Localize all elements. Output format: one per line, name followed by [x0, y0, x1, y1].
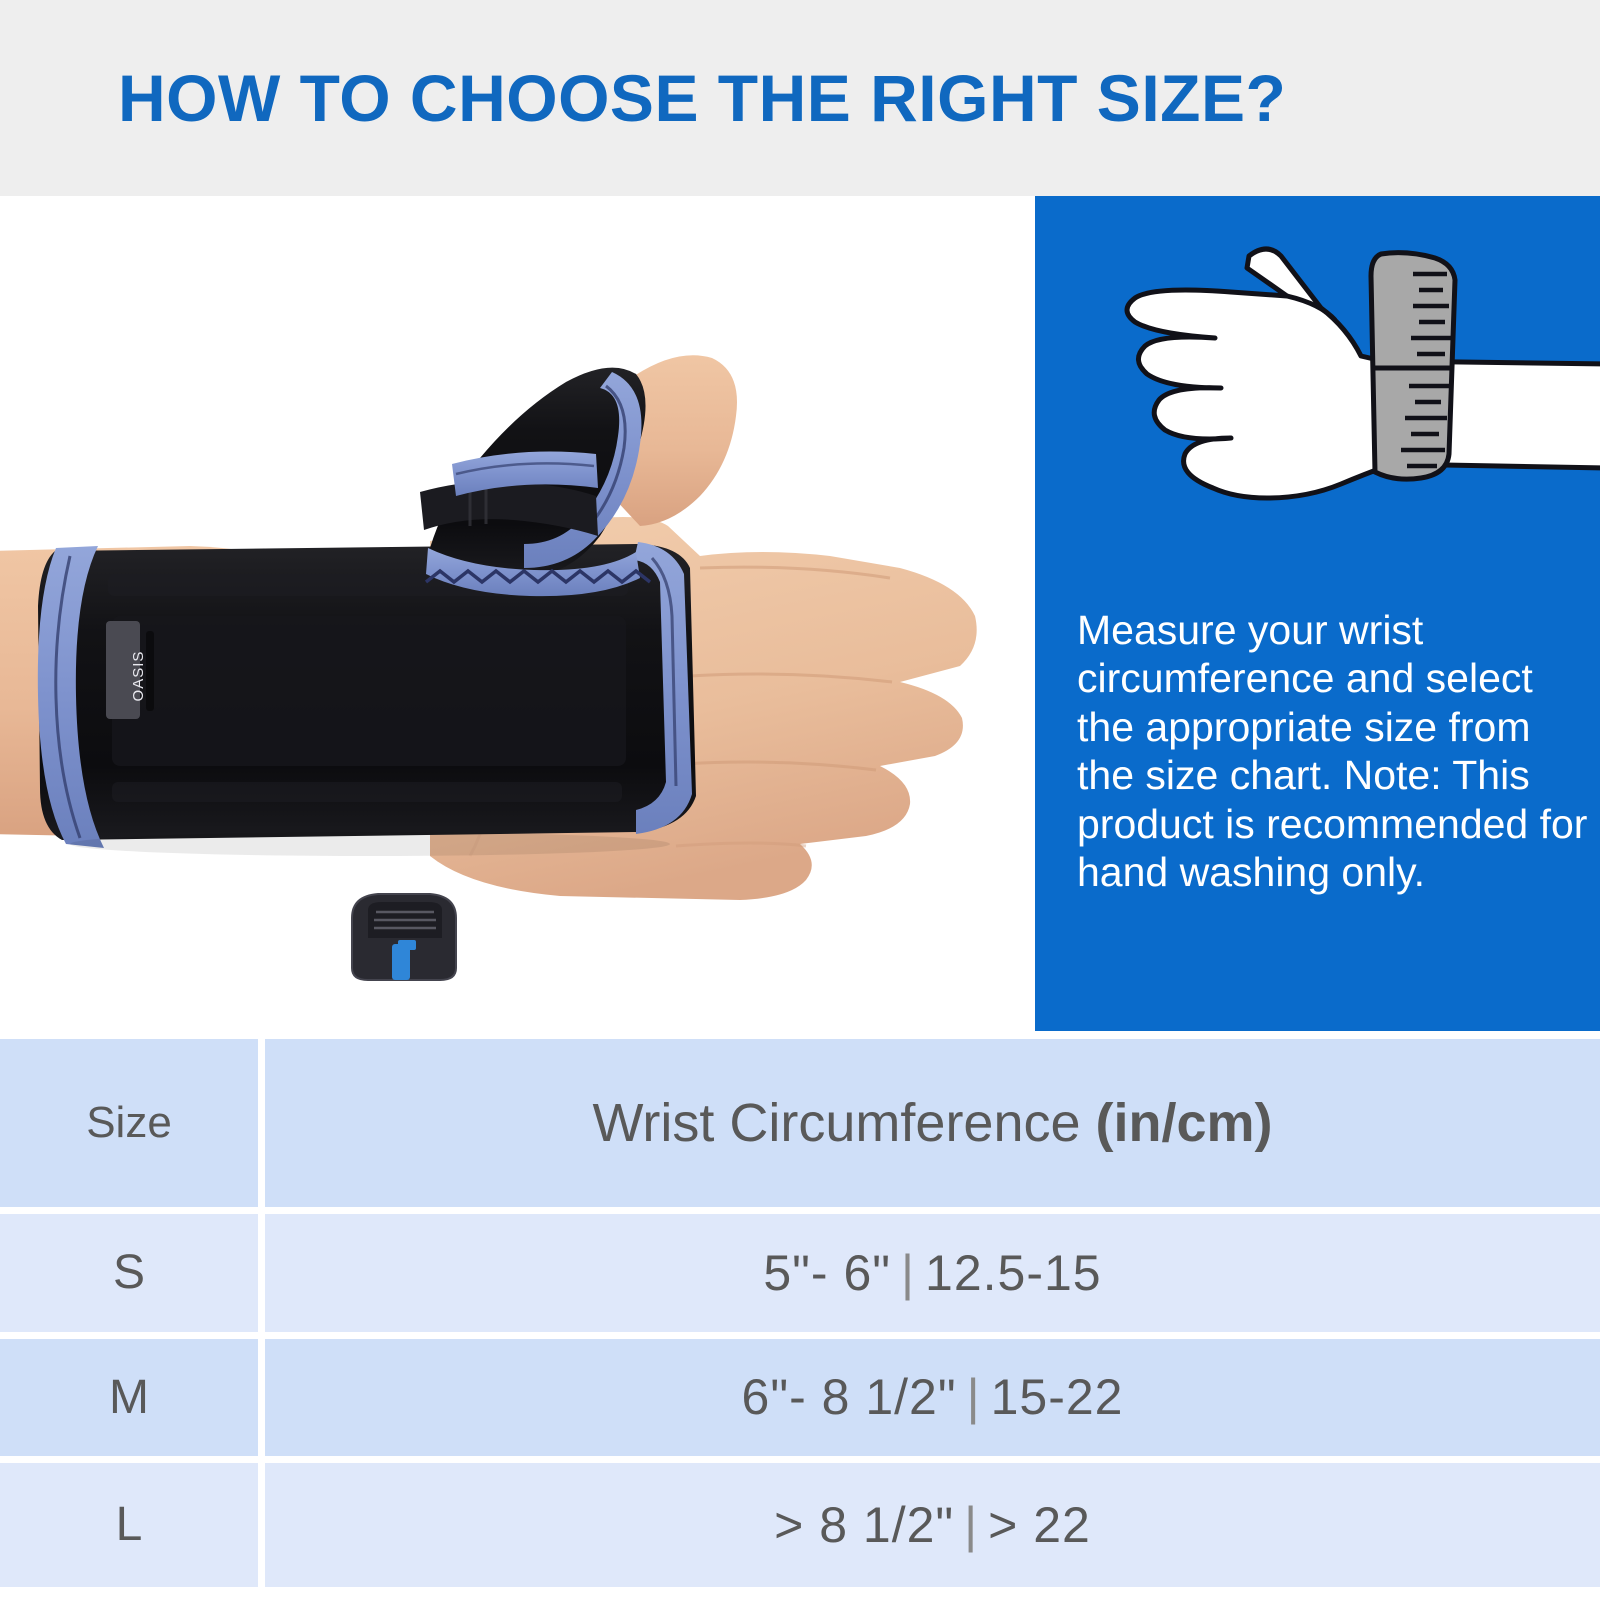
value-separator-s: | [891, 1245, 925, 1301]
cell-size-m: M [0, 1339, 265, 1463]
svg-text:OASIS: OASIS [130, 651, 147, 702]
value-cm-m: 15-22 [991, 1369, 1124, 1425]
page-title: HOW TO CHOOSE THE RIGHT SIZE? [118, 60, 1286, 136]
value-separator-l: | [954, 1497, 988, 1553]
infographic-page: HOW TO CHOOSE THE RIGHT SIZE? [0, 0, 1600, 1600]
header-measurement-units: (in/cm) [1096, 1093, 1273, 1153]
header-measurement-label: Wrist Circumference [592, 1093, 1095, 1153]
value-inches-l: > 8 1/2" [774, 1497, 954, 1553]
value-cm-s: 12.5-15 [925, 1245, 1102, 1301]
value-cm-l: > 22 [988, 1497, 1091, 1553]
header-cell-size: Size [0, 1039, 265, 1214]
table-header-row: Size Wrist Circumference (in/cm) [0, 1039, 1600, 1214]
value-inches-m: 6"- 8 1/2" [742, 1369, 957, 1425]
product-photo: OASIS [0, 196, 1035, 1039]
cell-measurement-l: > 8 1/2"|> 22 [265, 1463, 1600, 1587]
measure-instructions: Measure your wrist circumference and sel… [1077, 606, 1589, 896]
value-inches-s: 5"- 6" [763, 1245, 891, 1301]
table-row: M 6"- 8 1/2"|15-22 [0, 1339, 1600, 1463]
header-cell-measurement: Wrist Circumference (in/cm) [265, 1039, 1600, 1214]
table-row: L > 8 1/2"|> 22 [0, 1463, 1600, 1587]
wrist-measure-illustration [1035, 216, 1600, 616]
value-separator-m: | [957, 1369, 991, 1425]
cell-size-s: S [0, 1214, 265, 1338]
size-chart-table: Size Wrist Circumference (in/cm) S 5"- 6… [0, 1039, 1600, 1587]
table-row: S 5"- 6"|12.5-15 [0, 1214, 1600, 1338]
cell-measurement-s: 5"- 6"|12.5-15 [265, 1214, 1600, 1338]
info-panel: Measure your wrist circumference and sel… [1035, 196, 1600, 1031]
cell-measurement-m: 6"- 8 1/2"|15-22 [265, 1339, 1600, 1463]
cell-size-l: L [0, 1463, 265, 1587]
product-photo-image: OASIS [0, 196, 1035, 1039]
tensioner-buckle [352, 894, 456, 980]
header-band: HOW TO CHOOSE THE RIGHT SIZE? [0, 0, 1600, 196]
